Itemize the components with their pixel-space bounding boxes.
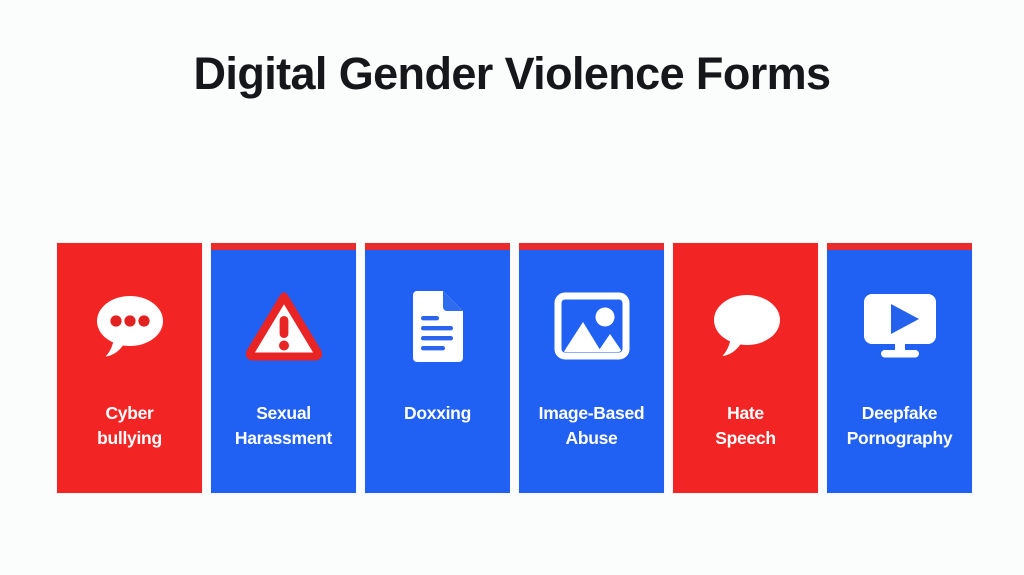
card-top-stripe [365,243,510,250]
card-label-line2: bullying [60,426,199,451]
speech-bubble-dots-icon [87,287,173,365]
card-hate-speech[interactable]: Hate Speech [673,243,818,493]
card-label-line2: Abuse [522,426,661,451]
card-label: Cyber bullying [57,401,202,451]
card-top-stripe [211,243,356,250]
card-label: Deepfake Pornography [827,401,972,451]
card-label: Doxxing [365,401,510,426]
card-cyber-bullying[interactable]: Cyber bullying [57,243,202,493]
card-sexual-harassment[interactable]: Sexual Harassment [211,243,356,493]
card-label-line2: Harassment [214,426,353,451]
card-doxxing[interactable]: Doxxing [365,243,510,493]
card-label-line2: Pornography [830,426,969,451]
monitor-play-icon [857,287,943,365]
card-label-line1: Deepfake [830,401,969,426]
speech-bubble-icon [703,287,789,365]
card-row: Cyber bullying Sexual Harassment [57,243,968,493]
document-icon [395,287,481,365]
card-image-based-abuse[interactable]: Image-Based Abuse [519,243,664,493]
card-deepfake-pornography[interactable]: Deepfake Pornography [827,243,972,493]
card-label-line1: Doxxing [368,401,507,426]
image-photo-icon [549,287,635,365]
card-label: Image-Based Abuse [519,401,664,451]
card-label-line1: Image-Based [522,401,661,426]
card-label: Hate Speech [673,401,818,451]
card-label-line1: Hate [676,401,815,426]
slide-canvas: Digital Gender Violence Forms Cyber bull… [0,0,1024,575]
card-label-line1: Sexual [214,401,353,426]
warning-triangle-icon [241,287,327,365]
card-top-stripe [519,243,664,250]
card-label: Sexual Harassment [211,401,356,451]
page-title: Digital Gender Violence Forms [0,48,1024,100]
card-label-line1: Cyber [60,401,199,426]
card-top-stripe [827,243,972,250]
card-label-line2: Speech [676,426,815,451]
